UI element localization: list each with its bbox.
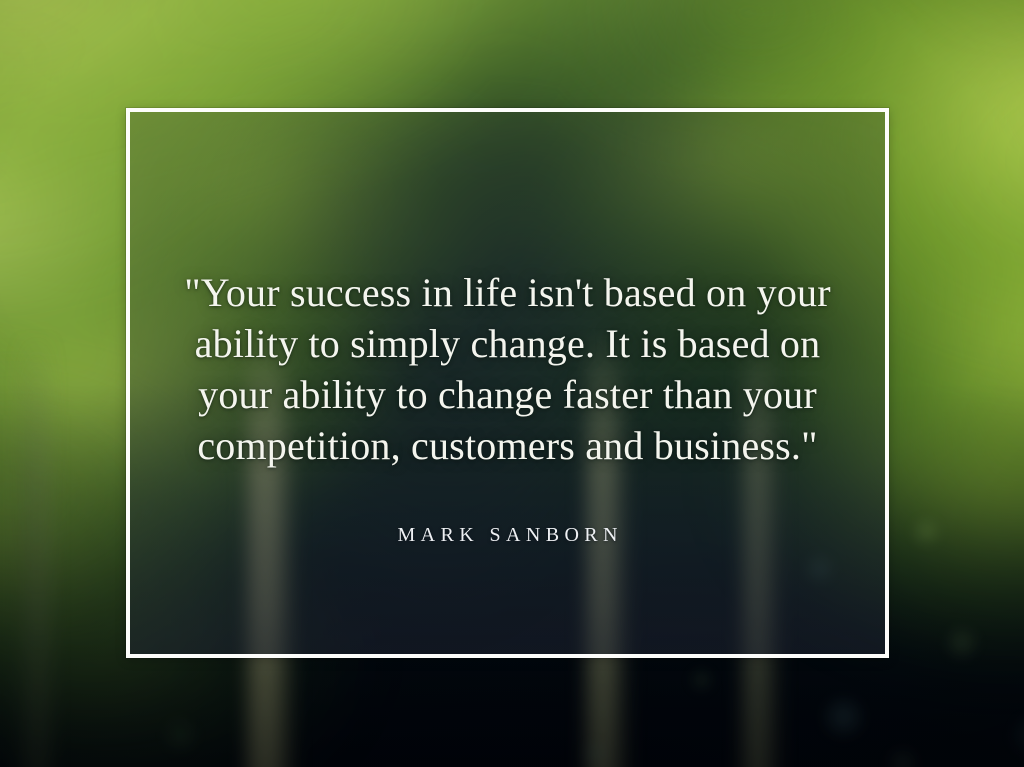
quote-card: "Your success in life isn't based on you…	[0, 0, 1024, 767]
quote-line-2: ability to simply change. It is based on	[144, 318, 871, 369]
quote-line-3: your ability to change faster than your	[144, 369, 871, 420]
quote-attribution: MARK SANBORN	[392, 523, 623, 547]
quote-line-1: "Your success in life isn't based on you…	[144, 267, 871, 318]
quote-text: "Your success in life isn't based on you…	[130, 267, 885, 471]
quote-frame-border: "Your success in life isn't based on you…	[126, 108, 889, 658]
quote-content: "Your success in life isn't based on you…	[130, 112, 885, 654]
quote-line-4: competition, customers and business."	[144, 420, 871, 471]
